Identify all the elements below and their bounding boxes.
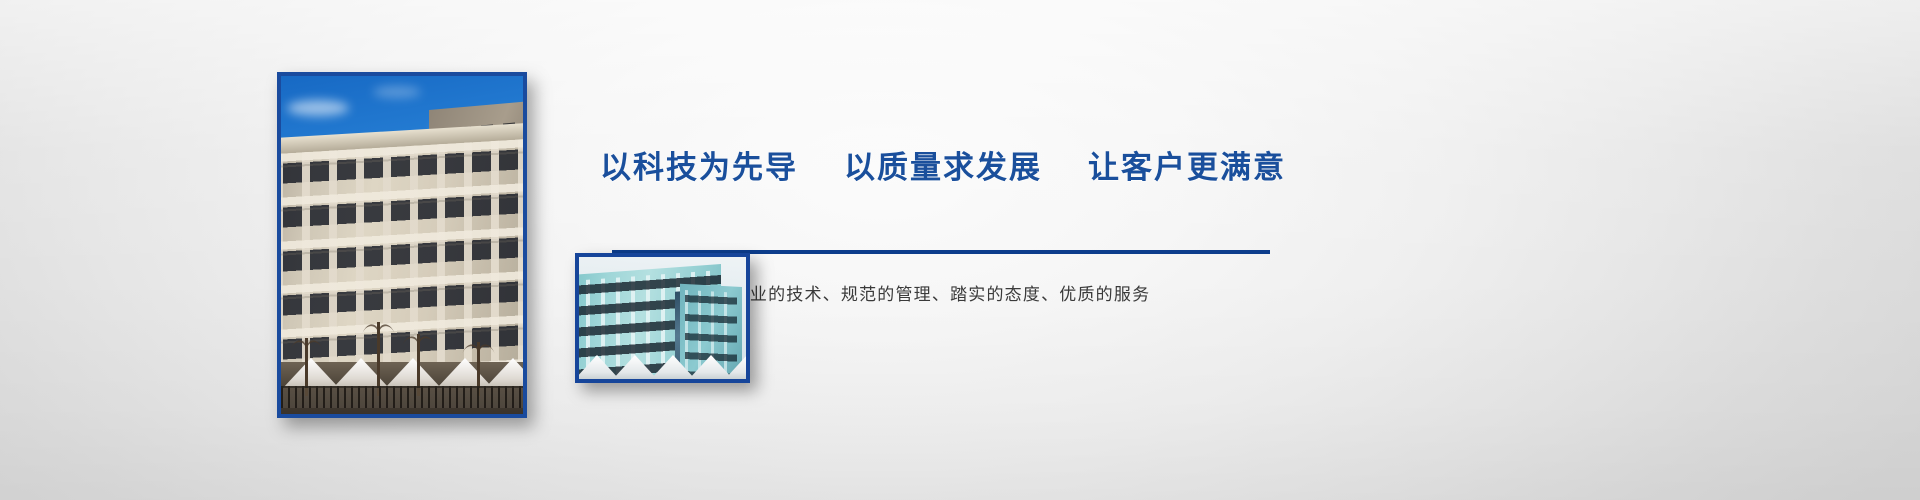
photo-frame-office-building-beige xyxy=(277,72,527,418)
bare-tree xyxy=(377,322,380,396)
photo-frame-office-building-teal xyxy=(575,253,750,383)
headline-phrase-3: 让客户更满意 xyxy=(1088,142,1286,187)
tent-canopy xyxy=(283,358,339,388)
photo-image-office-building-teal xyxy=(579,257,746,379)
tent-canopy-row xyxy=(579,353,746,379)
tent-canopy xyxy=(579,355,619,379)
cloud-shape xyxy=(287,100,349,116)
promo-banner: 以科技为先导 以质量求发展 让客户更满意 专业的技术、规范的管理、踏实的态度、优… xyxy=(0,0,1920,500)
banner-headline: 以科技为先导 以质量求发展 让客户更满意 xyxy=(600,142,1286,187)
headline-phrase-1: 以科技为先导 xyxy=(600,142,798,187)
perimeter-fence xyxy=(281,386,523,408)
headline-phrase-2: 以质量求发展 xyxy=(844,142,1042,187)
tent-canopy xyxy=(385,358,441,388)
tent-canopy xyxy=(333,358,389,388)
tent-canopy xyxy=(651,355,695,379)
tent-canopy xyxy=(689,355,733,379)
tent-canopy xyxy=(613,355,657,379)
photo-image-office-building-beige xyxy=(281,76,523,414)
cloud-shape xyxy=(373,86,421,98)
